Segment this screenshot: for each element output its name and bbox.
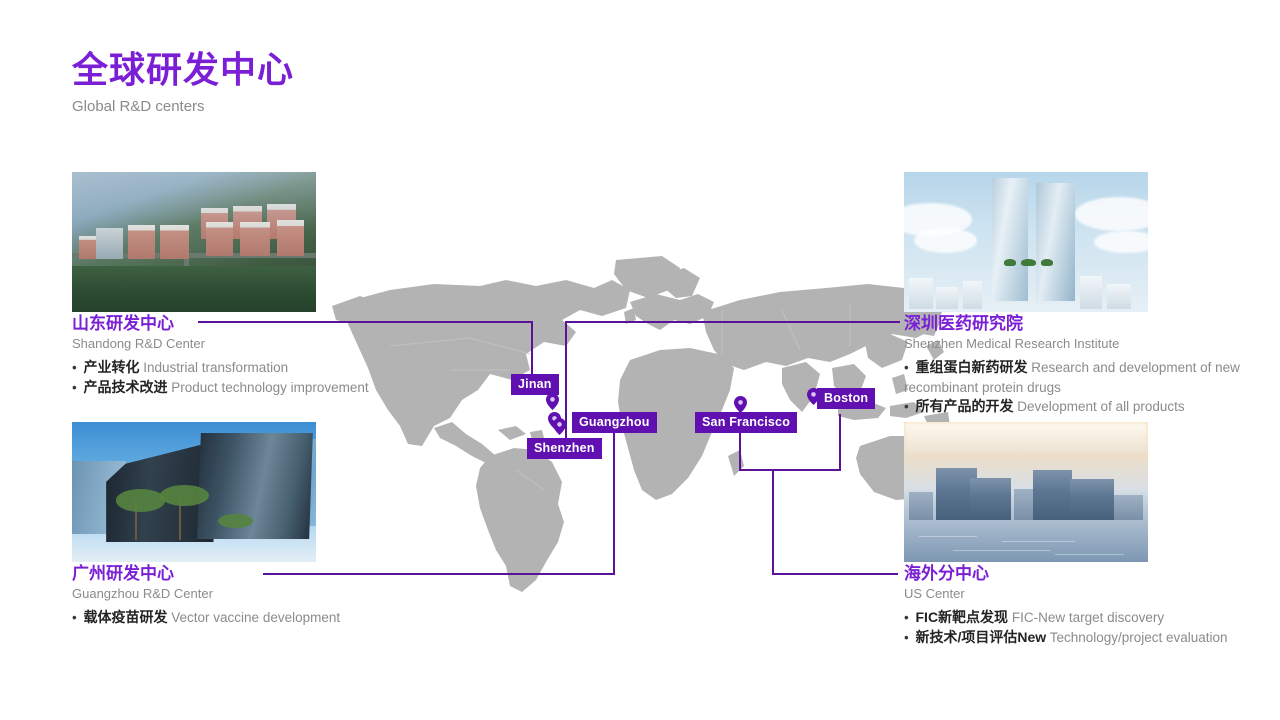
bullet-cn: 产品技术改进	[84, 379, 168, 395]
photo-us-center	[904, 422, 1148, 562]
map-label-san-francisco[interactable]: San Francisco	[695, 412, 797, 433]
center-subtitle-shandong: Shandong R&D Center	[72, 336, 492, 352]
bullet-list-shenzhen: • 重组蛋白新药研发 Research and development of n…	[904, 358, 1264, 417]
slide-canvas: 全球研发中心 Global R&D centers	[0, 0, 1280, 720]
bullet-dot: •	[904, 610, 909, 625]
bullet-dot: •	[72, 360, 77, 375]
bullet-dot: •	[72, 610, 77, 625]
bullet-cn: 重组蛋白新药研发	[916, 359, 1028, 375]
bullet-item: • 重组蛋白新药研发 Research and development of n…	[904, 358, 1264, 397]
bullet-dot: •	[904, 630, 909, 645]
center-block-shandong: 山东研发中心 Shandong R&D Center • 产业转化 Indust…	[72, 314, 492, 398]
map-label-guangzhou[interactable]: Guangzhou	[572, 412, 657, 433]
map-label-boston[interactable]: Boston	[817, 388, 875, 409]
bullet-en: FIC-New target discovery	[1012, 610, 1164, 625]
photo-shandong-center	[72, 172, 316, 312]
center-title-shandong: 山东研发中心	[72, 314, 492, 334]
bullet-cn: FIC新靶点发现	[916, 609, 1009, 625]
bullet-cn: 载体疫苗研发	[84, 609, 168, 625]
bullet-list-guangzhou: • 载体疫苗研发 Vector vaccine development	[72, 608, 492, 628]
page-title: 全球研发中心 Global R&D centers	[72, 50, 294, 115]
center-subtitle-shenzhen: Shenzhen Medical Research Institute	[904, 336, 1264, 352]
title-english: Global R&D centers	[72, 99, 294, 116]
bullet-list-shandong: • 产业转化 Industrial transformation • 产品技术改…	[72, 358, 492, 398]
center-subtitle-us: US Center	[904, 586, 1264, 602]
bullet-en: Industrial transformation	[143, 360, 288, 375]
center-subtitle-guangzhou: Guangzhou R&D Center	[72, 586, 492, 602]
center-block-us: 海外分中心 US Center • FIC新靶点发现 FIC-New targe…	[904, 564, 1264, 648]
center-block-shenzhen: 深圳医药研究院 Shenzhen Medical Research Instit…	[904, 314, 1264, 417]
bullet-item: • 产业转化 Industrial transformation	[72, 358, 492, 378]
bullet-en: Product technology improvement	[171, 380, 368, 395]
bullet-en: Vector vaccine development	[171, 610, 340, 625]
map-label-shenzhen[interactable]: Shenzhen	[527, 438, 602, 459]
map-label-jinan[interactable]: Jinan	[511, 374, 559, 395]
bullet-dot: •	[72, 380, 77, 395]
bullet-cn: 所有产品的开发	[916, 398, 1014, 414]
bullet-item: • 新技术/项目评估New Technology/project evaluat…	[904, 628, 1264, 648]
bullet-item: • 所有产品的开发 Development of all products	[904, 397, 1264, 417]
center-title-us: 海外分中心	[904, 564, 1264, 584]
center-title-shenzhen: 深圳医药研究院	[904, 314, 1264, 334]
map-pin-shenzhen[interactable]	[553, 418, 566, 435]
map-pin-jinan[interactable]	[546, 393, 559, 410]
center-title-guangzhou: 广州研发中心	[72, 564, 492, 584]
bullet-item: • 产品技术改进 Product technology improvement	[72, 378, 492, 398]
bullet-dot: •	[904, 360, 909, 375]
map-pin-san-francisco[interactable]	[734, 396, 747, 413]
bullet-cn: 新技术/项目评估New	[916, 629, 1047, 645]
bullet-en: Development of all products	[1017, 399, 1184, 414]
bullet-cn: 产业转化	[84, 359, 140, 375]
bullet-en: Technology/project evaluation	[1050, 630, 1228, 645]
bullet-list-us: • FIC新靶点发现 FIC-New target discovery • 新技…	[904, 608, 1264, 648]
center-block-guangzhou: 广州研发中心 Guangzhou R&D Center • 载体疫苗研发 Vec…	[72, 564, 492, 628]
bullet-dot: •	[904, 399, 909, 414]
title-chinese: 全球研发中心	[72, 50, 294, 90]
photo-shenzhen-institute	[904, 172, 1148, 312]
photo-guangzhou-center	[72, 422, 316, 562]
bullet-item: • 载体疫苗研发 Vector vaccine development	[72, 608, 492, 628]
bullet-item: • FIC新靶点发现 FIC-New target discovery	[904, 608, 1264, 628]
